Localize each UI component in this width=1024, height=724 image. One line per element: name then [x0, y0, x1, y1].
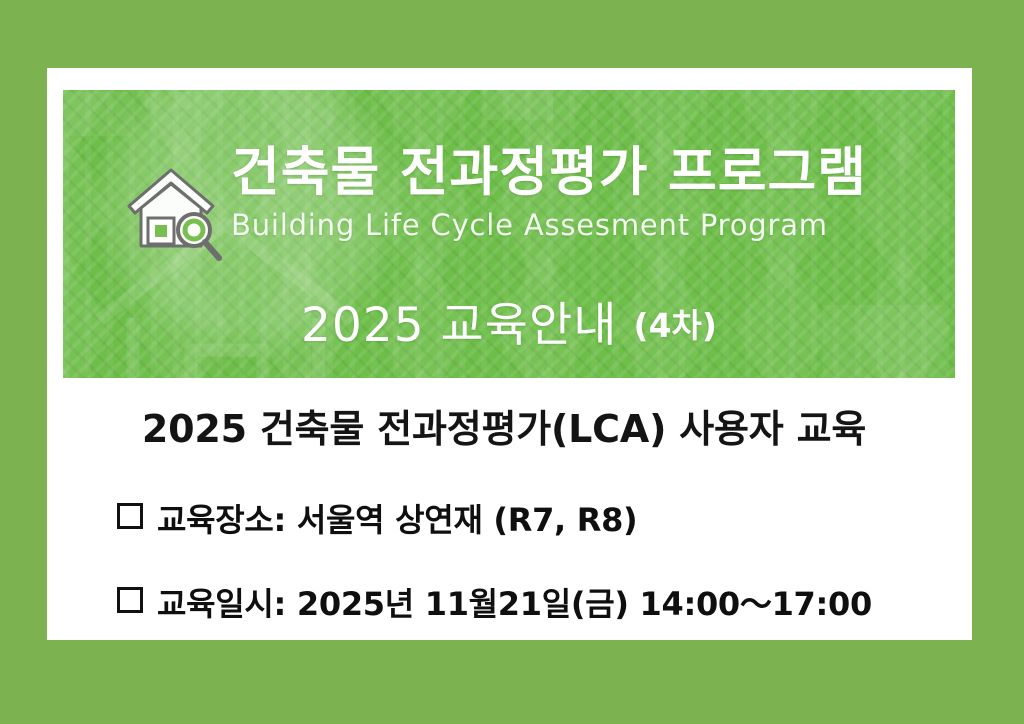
page-title: 2025 건축물 전과정평가(LCA) 사용자 교육: [63, 398, 963, 453]
house-magnifier-icon: [121, 158, 225, 262]
list-item-location-text: 교육장소: 서울역 상연재 (R7, R8): [157, 495, 637, 541]
poster-body: 2025 건축물 전과정평가(LCA) 사용자 교육 교육장소: 서울역 상연재…: [63, 398, 963, 663]
list-item-datetime: 교육일시: 2025년 11월21일(금) 14:00〜17:00: [117, 579, 963, 625]
banner-event-year-label: 2025 교육안내: [301, 298, 618, 353]
poster-white-card: 건축물 전과정평가 프로그램 Building Life Cycle Asses…: [47, 68, 972, 640]
square-bullet-icon: [117, 503, 143, 529]
poster-root: 건축물 전과정평가 프로그램 Building Life Cycle Asses…: [0, 0, 1024, 724]
poster-banner: 건축물 전과정평가 프로그램 Building Life Cycle Asses…: [63, 90, 955, 378]
banner-subtitle-english: Building Life Cycle Assesment Program: [231, 208, 947, 242]
banner-block-watermark: [69, 92, 129, 136]
banner-block-watermark: [145, 92, 161, 108]
banner-event-line: 2025 교육안내(4차): [63, 286, 955, 355]
banner-text-block: 건축물 전과정평가 프로그램 Building Life Cycle Asses…: [231, 146, 947, 242]
banner-block-watermark: [175, 92, 191, 108]
banner-block-watermark: [483, 90, 553, 120]
square-bullet-icon: [117, 587, 143, 613]
list-item-location: 교육장소: 서울역 상연재 (R7, R8): [117, 495, 963, 541]
detail-list: 교육장소: 서울역 상연재 (R7, R8) 교육일시: 2025년 11월21…: [63, 495, 963, 625]
list-item-datetime-text: 교육일시: 2025년 11월21일(금) 14:00〜17:00: [157, 579, 872, 625]
banner-event-round-label: (4차): [634, 306, 718, 345]
banner-title-korean: 건축물 전과정평가 프로그램: [231, 146, 947, 200]
